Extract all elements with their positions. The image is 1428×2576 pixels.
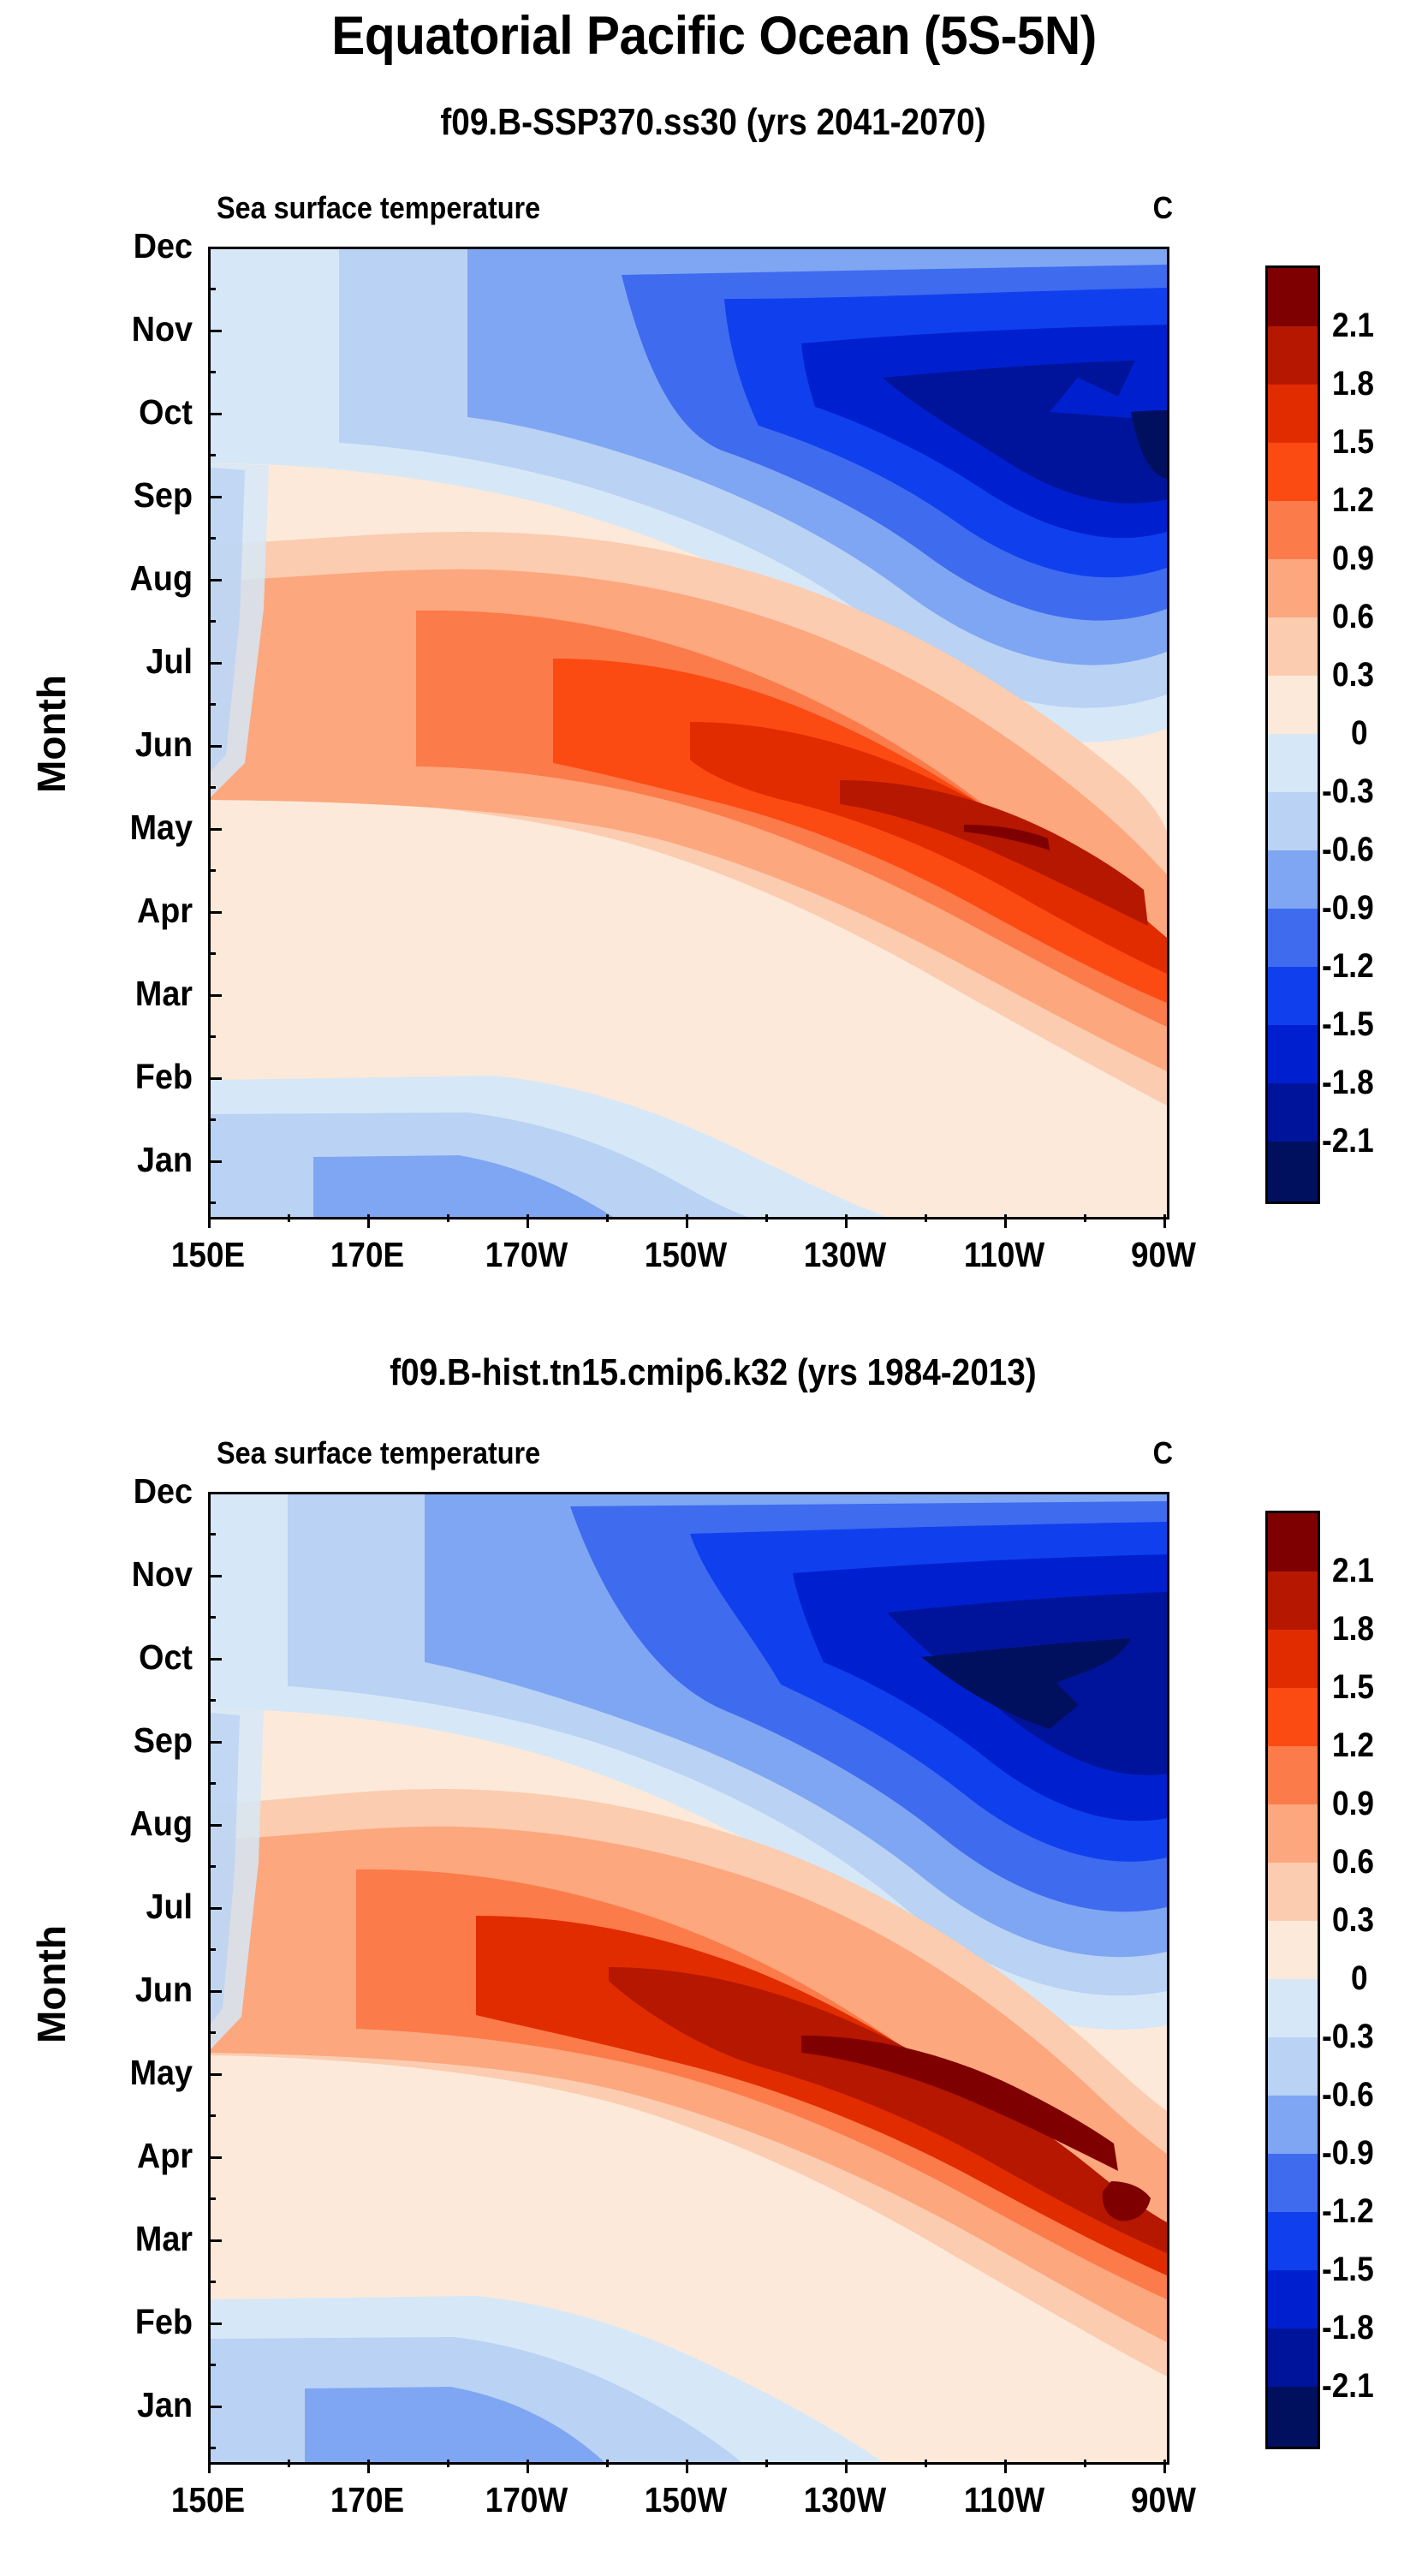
cbar2-label-3: 1.2 <box>1332 1726 1374 1765</box>
panel-1-variable-label: Sea surface temperature <box>217 190 540 226</box>
cbar-label-13: -1.8 <box>1322 1064 1374 1102</box>
xtick2-150W: 150W <box>609 2480 763 2520</box>
panel-1-subtitle: f09.B-SSP370.ss30 (yrs 2041-2070) <box>175 101 1252 144</box>
ytick2-oct: Oct <box>35 1637 193 1678</box>
ytick-dec: Dec <box>35 226 193 266</box>
xtick-90W: 90W <box>1086 1235 1241 1275</box>
cbar-label-2: 1.5 <box>1332 423 1374 462</box>
cbar2-swatch-5 <box>1268 1804 1318 1864</box>
ytick-jul: Jul <box>35 641 193 682</box>
ytick-mar: Mar <box>35 974 193 1014</box>
cbar2-label-6: 0.3 <box>1332 1901 1374 1940</box>
cbar2-swatch-6 <box>1268 1863 1318 1923</box>
panel-2-colorbar <box>1265 1511 1320 2449</box>
ytick-sep: Sep <box>35 475 193 516</box>
cbar-swatch-14 <box>1268 1083 1318 1143</box>
xtick2-170E: 170E <box>290 2480 444 2520</box>
ytick-apr: Apr <box>35 891 193 931</box>
ytick2-dec: Dec <box>35 1471 193 1512</box>
xtick-170E: 170E <box>290 1235 444 1275</box>
cbar-label-5: 0.6 <box>1332 598 1374 636</box>
cbar2-label-2: 1.5 <box>1332 1668 1374 1707</box>
ytick2-sep: Sep <box>35 1720 193 1761</box>
cbar-label-0: 2.1 <box>1332 307 1374 345</box>
cbar-swatch-0 <box>1268 268 1318 328</box>
cbar2-swatch-8 <box>1268 1979 1318 2039</box>
xtick-150E: 150E <box>131 1235 285 1275</box>
cbar-label-8: -0.3 <box>1322 772 1374 811</box>
panel-1-colorbar <box>1265 265 1320 1204</box>
cbar-swatch-8 <box>1268 734 1318 794</box>
cbar2-swatch-11 <box>1268 2154 1318 2214</box>
cbar2-swatch-2 <box>1268 1630 1318 1690</box>
ytick2-feb: Feb <box>35 2302 193 2342</box>
figure-root: Equatorial Pacific Ocean (5S-5N) f09.B-S… <box>0 0 1428 2576</box>
cbar-label-7: 0 <box>1351 714 1368 753</box>
cbar2-swatch-9 <box>1268 2037 1318 2097</box>
cbar-swatch-2 <box>1268 385 1318 444</box>
cbar-swatch-4 <box>1268 501 1318 561</box>
cbar2-label-0: 2.1 <box>1332 1552 1374 1590</box>
cbar2-label-4: 0.9 <box>1332 1785 1374 1823</box>
xtick-130W: 130W <box>768 1235 922 1275</box>
cbar2-label-5: 0.6 <box>1332 1843 1374 1881</box>
cbar-label-14: -2.1 <box>1322 1122 1374 1160</box>
cbar-swatch-9 <box>1268 792 1318 852</box>
cbar-swatch-1 <box>1268 326 1318 386</box>
ytick-jan: Jan <box>35 1140 193 1180</box>
panel-1-units-label: C <box>1127 190 1173 226</box>
panel-1-contour-field <box>211 249 1167 1217</box>
cbar-swatch-3 <box>1268 443 1318 503</box>
cbar-swatch-6 <box>1268 617 1318 677</box>
cbar2-swatch-15 <box>1268 2387 1318 2447</box>
ytick2-jan: Jan <box>35 2385 193 2425</box>
cbar2-label-10: -0.9 <box>1322 2134 1374 2173</box>
cbar-swatch-15 <box>1268 1142 1318 1202</box>
cbar-label-9: -0.6 <box>1322 831 1374 869</box>
xtick2-170W: 170W <box>449 2480 604 2520</box>
cbar-swatch-5 <box>1268 559 1318 619</box>
cbar2-label-8: -0.3 <box>1322 2018 1374 2056</box>
ytick2-apr: Apr <box>35 2136 193 2176</box>
ytick-oct: Oct <box>35 392 193 432</box>
panel-1-plot-area <box>208 247 1169 1219</box>
xtick2-90W: 90W <box>1086 2480 1241 2520</box>
xtick-150W: 150W <box>609 1235 763 1275</box>
ytick2-jul: Jul <box>35 1887 193 1927</box>
cbar-label-10: -0.9 <box>1322 889 1374 927</box>
cbar-swatch-7 <box>1268 676 1318 736</box>
cbar2-swatch-3 <box>1268 1688 1318 1748</box>
panel-2-units-label: C <box>1127 1435 1173 1471</box>
ytick2-nov: Nov <box>35 1554 193 1595</box>
cbar2-swatch-7 <box>1268 1921 1318 1981</box>
cbar-label-1: 1.8 <box>1332 365 1374 403</box>
cbar2-swatch-12 <box>1268 2212 1318 2272</box>
panel-2-plot-area <box>208 1492 1169 2465</box>
cbar-label-6: 0.3 <box>1332 656 1374 695</box>
cbar2-swatch-4 <box>1268 1746 1318 1806</box>
cbar2-label-13: -1.8 <box>1322 2309 1374 2347</box>
ytick2-jun: Jun <box>35 1970 193 2010</box>
cbar2-label-1: 1.8 <box>1332 1610 1374 1649</box>
ytick2-may: May <box>35 2053 193 2093</box>
cbar-swatch-10 <box>1268 850 1318 910</box>
xtick-110W: 110W <box>927 1235 1081 1275</box>
cbar-swatch-11 <box>1268 909 1318 969</box>
ytick2-mar: Mar <box>35 2219 193 2259</box>
page-title: Equatorial Pacific Ocean (5S-5N) <box>50 5 1377 67</box>
cbar-label-11: -1.2 <box>1322 947 1374 986</box>
xtick2-110W: 110W <box>927 2480 1081 2520</box>
cbar2-label-7: 0 <box>1351 1959 1368 1998</box>
cbar2-swatch-1 <box>1268 1571 1318 1631</box>
xtick2-130W: 130W <box>768 2480 922 2520</box>
cbar-swatch-13 <box>1268 1025 1318 1085</box>
cbar-label-4: 0.9 <box>1332 540 1374 578</box>
panel-2-subtitle: f09.B-hist.tn15.cmip6.k32 (yrs 1984-2013… <box>175 1351 1252 1394</box>
cbar2-label-9: -0.6 <box>1322 2076 1374 2114</box>
panel-2-variable-label: Sea surface temperature <box>217 1435 540 1471</box>
cbar2-label-12: -1.5 <box>1322 2251 1374 2289</box>
ytick-jun: Jun <box>35 724 193 765</box>
cbar2-swatch-13 <box>1268 2270 1318 2330</box>
ytick-nov: Nov <box>35 309 193 349</box>
cbar2-swatch-0 <box>1268 1513 1318 1573</box>
cbar-label-3: 1.2 <box>1332 481 1374 520</box>
ytick-may: May <box>35 808 193 848</box>
panel-2-contour-field <box>211 1494 1167 2462</box>
ytick-feb: Feb <box>35 1057 193 1097</box>
cbar2-swatch-10 <box>1268 2096 1318 2156</box>
xtick-170W: 170W <box>449 1235 604 1275</box>
ytick2-aug: Aug <box>35 1804 193 1844</box>
cbar2-label-14: -2.1 <box>1322 2367 1374 2406</box>
cbar2-label-11: -1.2 <box>1322 2192 1374 2231</box>
ytick-aug: Aug <box>35 558 193 599</box>
cbar-label-12: -1.5 <box>1322 1005 1374 1044</box>
xtick2-150E: 150E <box>131 2480 285 2520</box>
cbar2-swatch-14 <box>1268 2329 1318 2388</box>
cbar-swatch-12 <box>1268 967 1318 1027</box>
